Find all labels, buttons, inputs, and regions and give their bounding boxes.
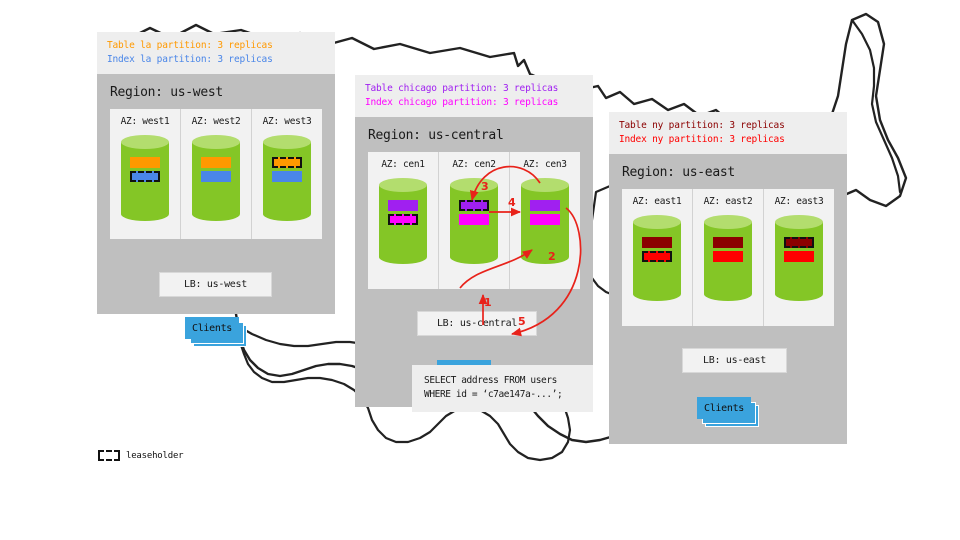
replica-bars-cen1: [379, 200, 427, 225]
cylinder-bottom: [704, 287, 752, 301]
az-west2[interactable]: AZ: west2: [180, 109, 251, 239]
az-cen2[interactable]: AZ: cen2: [438, 152, 509, 289]
clients-us-west[interactable]: Clients: [185, 317, 247, 347]
replica-bars-west2: [192, 157, 240, 182]
az-label-east3: AZ: east3: [764, 196, 834, 207]
sql-line-1: SELECT address FROM users: [424, 374, 581, 388]
cylinder-bottom: [121, 207, 169, 221]
cylinder-bottom: [379, 250, 427, 264]
az-label-west2: AZ: west2: [181, 116, 251, 127]
replica-bars-west3: [263, 157, 311, 182]
partition-line-index-chicago: Index chicago partition: 3 replicas: [365, 96, 583, 110]
flow-step-number-2: 2: [548, 250, 556, 263]
clients-us-east[interactable]: Clients: [697, 397, 759, 427]
region-panel-us-central: Table chicago partition: 3 replicas Inde…: [355, 75, 593, 407]
az-west3[interactable]: AZ: west3: [251, 109, 322, 239]
cylinder-top: [379, 178, 427, 192]
partition-line-table-chicago: Table chicago partition: 3 replicas: [365, 82, 583, 96]
replica-bars-west1: [121, 157, 169, 182]
cylinder-top: [263, 135, 311, 149]
cylinder-top: [633, 215, 681, 229]
sql-line-2: WHERE id = ‘c7ae147a-...’;: [424, 388, 581, 402]
replica-bar-table-chicago: [388, 200, 419, 211]
replica-bar-table-ny: [642, 237, 673, 248]
replica-bars-east1: [633, 237, 681, 262]
node-cylinder-cen3[interactable]: [521, 178, 569, 264]
cylinder-top: [521, 178, 569, 192]
az-label-east2: AZ: east2: [693, 196, 763, 207]
az-label-cen2: AZ: cen2: [439, 159, 509, 170]
flow-step-number-3: 3: [481, 180, 489, 193]
cylinder-top: [192, 135, 240, 149]
clients-label-us-west[interactable]: Clients: [185, 317, 239, 339]
replica-bar-index-la: [201, 171, 232, 182]
replica-bars-cen2: [450, 200, 498, 225]
partition-header-us-central: Table chicago partition: 3 replicas Inde…: [355, 75, 593, 117]
partition-line-table-ny: Table ny partition: 3 replicas: [619, 119, 837, 133]
region-title-us-east: Region: us-east: [609, 154, 847, 189]
cylinder-top: [704, 215, 752, 229]
region-body-us-central: Region: us-central AZ: cen1: [355, 117, 593, 407]
partition-line-index-la: Index la partition: 3 replicas: [107, 53, 325, 67]
region-body-us-west: Region: us-west AZ: west1 A: [97, 74, 335, 314]
node-cylinder-east2[interactable]: [704, 215, 752, 301]
az-west1[interactable]: AZ: west1: [110, 109, 180, 239]
az-label-cen3: AZ: cen3: [510, 159, 580, 170]
region-panel-us-east: Table ny partition: 3 replicas Index ny …: [609, 112, 847, 444]
region-title-us-central: Region: us-central: [355, 117, 593, 152]
replica-bar-index-la: [272, 171, 303, 182]
az-row-us-east: AZ: east1 AZ: east2: [622, 189, 834, 326]
az-east3[interactable]: AZ: east3: [763, 189, 834, 326]
cylinder-bottom: [775, 287, 823, 301]
az-row-us-west: AZ: west1 AZ: west2: [110, 109, 322, 239]
replica-bar-table-ny: [713, 237, 744, 248]
region-title-us-west: Region: us-west: [97, 74, 335, 109]
partition-line-index-ny: Index ny partition: 3 replicas: [619, 133, 837, 147]
cylinder-top: [121, 135, 169, 149]
az-cen1[interactable]: AZ: cen1: [368, 152, 438, 289]
az-row-us-central: AZ: cen1 AZ: cen2: [368, 152, 580, 289]
partition-header-us-east: Table ny partition: 3 replicas Index ny …: [609, 112, 847, 154]
az-label-east1: AZ: east1: [622, 196, 692, 207]
az-label-west1: AZ: west1: [110, 116, 180, 127]
flow-step-number-5: 5: [518, 315, 526, 328]
replica-bar-table-ny-leaseholder: [784, 237, 815, 248]
cylinder-bottom: [192, 207, 240, 221]
flow-step-number-1: 1: [484, 296, 492, 309]
az-east1[interactable]: AZ: east1: [622, 189, 692, 326]
replica-bar-index-la-leaseholder: [130, 171, 161, 182]
replica-bar-index-chicago: [459, 214, 490, 225]
cylinder-bottom: [450, 250, 498, 264]
node-cylinder-west2[interactable]: [192, 135, 240, 221]
legend-leaseholder: leaseholder: [98, 450, 183, 461]
replica-bar-table-chicago: [530, 200, 561, 211]
cylinder-bottom: [633, 287, 681, 301]
diagram-canvas: Table la partition: 3 replicas Index la …: [0, 0, 960, 540]
az-cen3[interactable]: AZ: cen3: [509, 152, 580, 289]
az-label-cen1: AZ: cen1: [368, 159, 438, 170]
flow-step-number-4: 4: [508, 196, 516, 209]
replica-bar-index-ny-leaseholder: [642, 251, 673, 262]
partition-line-table-la: Table la partition: 3 replicas: [107, 39, 325, 53]
replica-bar-index-chicago-leaseholder: [388, 214, 419, 225]
partition-header-us-west: Table la partition: 3 replicas Index la …: [97, 32, 335, 74]
node-cylinder-cen2[interactable]: [450, 178, 498, 264]
az-east2[interactable]: AZ: east2: [692, 189, 763, 326]
node-cylinder-west3[interactable]: [263, 135, 311, 221]
replica-bar-table-la-leaseholder: [272, 157, 303, 168]
replica-bar-table-chicago-leaseholder: [459, 200, 490, 211]
region-panel-us-west: Table la partition: 3 replicas Index la …: [97, 32, 335, 314]
az-label-west3: AZ: west3: [252, 116, 322, 127]
node-cylinder-cen1[interactable]: [379, 178, 427, 264]
node-cylinder-east1[interactable]: [633, 215, 681, 301]
replica-bars-east2: [704, 237, 752, 262]
cylinder-top: [775, 215, 823, 229]
load-balancer-us-west[interactable]: LB: us-west: [159, 272, 272, 297]
replica-bar-index-ny: [713, 251, 744, 262]
replica-bars-cen3: [521, 200, 569, 225]
sql-query-box: SELECT address FROM users WHERE id = ‘c7…: [412, 365, 593, 412]
node-cylinder-east3[interactable]: [775, 215, 823, 301]
cylinder-bottom: [521, 250, 569, 264]
cylinder-top: [450, 178, 498, 192]
leaseholder-swatch-icon: [98, 450, 120, 461]
node-cylinder-west1[interactable]: [121, 135, 169, 221]
replica-bar-table-la: [130, 157, 161, 168]
legend-label: leaseholder: [126, 451, 183, 461]
replica-bar-index-ny: [784, 251, 815, 262]
replica-bar-table-la: [201, 157, 232, 168]
load-balancer-us-east[interactable]: LB: us-east: [682, 348, 787, 373]
cylinder-bottom: [263, 207, 311, 221]
replica-bar-index-chicago: [530, 214, 561, 225]
replica-bars-east3: [775, 237, 823, 262]
region-body-us-east: Region: us-east AZ: east1 A: [609, 154, 847, 444]
clients-label-us-east[interactable]: Clients: [697, 397, 751, 419]
